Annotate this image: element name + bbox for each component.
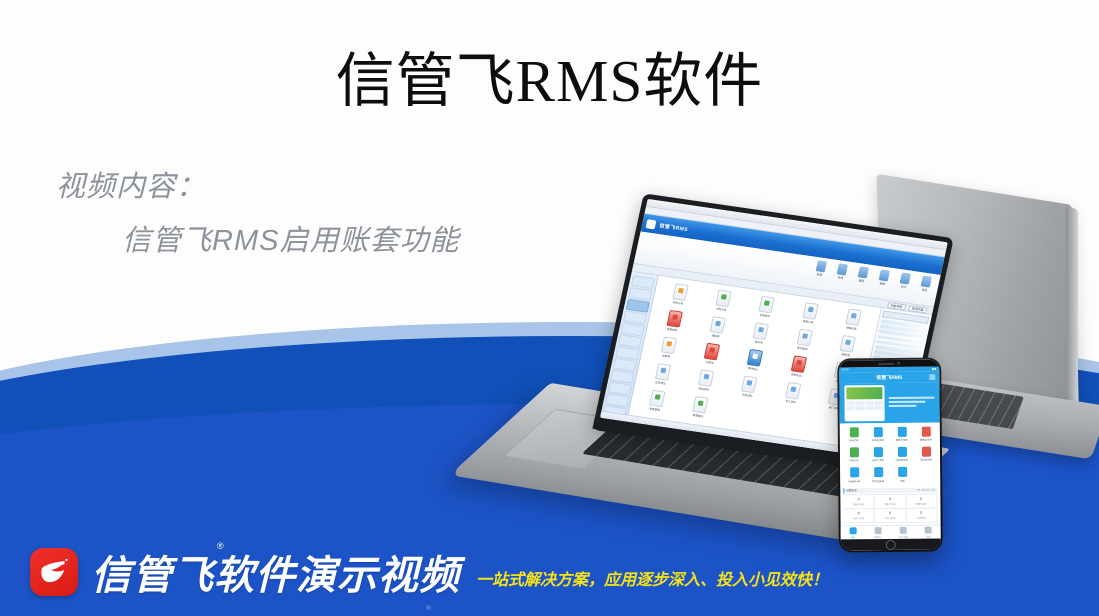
toolbar-button[interactable]: 删除	[854, 266, 872, 284]
function-icon-label: 仓库资料	[742, 393, 753, 398]
app-logo-icon	[646, 219, 657, 229]
function-icon-glyph	[846, 308, 862, 326]
function-icon[interactable]: 销售退货	[651, 308, 696, 335]
phone-function-item[interactable]: 采购退单单	[891, 447, 913, 462]
function-icon-glyph	[704, 343, 720, 361]
function-icon[interactable]: 调拨单	[695, 314, 740, 341]
function-icon-label: 其他收入	[747, 366, 758, 371]
function-icon-label: 调拨单	[711, 333, 720, 338]
subtitle-label: 视频内容：	[56, 163, 459, 205]
phone-stat-value: 0	[843, 497, 873, 501]
function-icon-glyph	[840, 335, 856, 353]
function-icon[interactable]: 仓库资料	[727, 374, 772, 401]
function-icon-glyph	[655, 363, 671, 381]
function-icon-glyph	[649, 390, 665, 408]
toolbar-label: 修改	[837, 275, 843, 280]
function-icon-glyph	[715, 290, 731, 308]
phone-stat-cell: 0库存金额	[906, 508, 937, 522]
function-icon[interactable]: 往来单位	[640, 361, 685, 388]
function-icon-label: 账套管理	[649, 407, 660, 412]
phone-function-label: 销售退货单	[920, 438, 932, 442]
function-icon-label: 盘点单	[755, 340, 764, 345]
phone-function-icon	[874, 467, 883, 477]
phone-function-label: 银行往来单	[872, 479, 884, 483]
phone-stat-cell: 0销售出库额	[906, 494, 937, 508]
phone-stat-cell: 0销售订单数	[875, 494, 906, 508]
phone-function-icon	[897, 447, 906, 457]
toolbar-button[interactable]: 修改	[833, 263, 851, 281]
presentation-slide: 信管飞RMS软件 视频内容： 信管飞RMS启用账套功能	[0, 0, 1099, 616]
phone-stat-value: 0	[906, 496, 936, 500]
toolbar-icon	[879, 269, 890, 281]
toolbar-label: 打印	[900, 284, 906, 289]
function-icon-label: 往来单位	[655, 380, 666, 385]
phone-stat-cell: 0采购订单额	[843, 509, 874, 523]
phone-function-label: 采购订单	[849, 459, 859, 463]
phone-function-icon	[898, 467, 907, 477]
phone-stat-value: 0	[906, 510, 936, 514]
function-icon-glyph	[759, 296, 775, 314]
function-icon[interactable]: 采购退货	[744, 294, 789, 321]
toolbar-icon	[837, 263, 848, 275]
toolbar-button[interactable]: 新增	[812, 260, 830, 278]
function-icon-glyph	[791, 355, 807, 373]
function-icon-label: 销售退货	[666, 327, 677, 332]
phone-status-icons: ▮▮▮	[932, 368, 936, 371]
phone-function-label: 采购订单	[849, 438, 859, 442]
phone-function-grid: 采购订单采购出库单销售订单单销售退货单采购订单采购入库单采购退单单采购退货单现金…	[840, 423, 941, 487]
smartphone-mockup: 09:30 ▮▮▮ 信管飞RMS	[837, 358, 943, 553]
phone-camera-icon	[897, 362, 900, 365]
phone-function-label: 销售订单单	[896, 438, 908, 442]
function-icon-label: 采购入库	[716, 306, 727, 311]
phone-screen: 09:30 ▮▮▮ 信管飞RMS	[839, 360, 941, 551]
function-icon[interactable]: 员工资料	[770, 380, 815, 407]
banner-title-text: 信管飞软件演示视频	[91, 554, 460, 598]
phone-function-item[interactable]: 销售订单单	[891, 427, 913, 442]
app-brand-title: 信管飞RMS	[659, 222, 689, 233]
phone-stat-label: 销售出库额	[906, 501, 936, 505]
phone-stat-value: 0	[875, 496, 905, 500]
phone-function-label: 现金银行单	[848, 479, 860, 483]
function-icon-label: 付款单	[705, 360, 714, 365]
phone-stat-value: 0	[875, 510, 905, 514]
function-icon-glyph	[802, 302, 818, 320]
function-icon-glyph	[785, 382, 801, 400]
phone-stat-cell: 0采购入库额	[875, 508, 906, 522]
phone-function-icon	[897, 427, 906, 437]
function-icon[interactable]: 采购订单	[657, 281, 702, 308]
phone-function-label: 采购出库单	[872, 438, 884, 442]
phone-stat-value: 0	[843, 511, 873, 515]
banner-slogan: 一站式解决方案，应用逐步深入、投入小见效快！	[476, 566, 828, 590]
function-icon[interactable]: 其他收入	[732, 347, 777, 374]
function-icon-glyph	[710, 316, 726, 334]
function-icon-label: 采购订单	[672, 300, 683, 305]
function-icon[interactable]: 盘点单	[738, 320, 783, 347]
secondary-laptop-lid-edge	[1066, 207, 1078, 409]
phone-function-item[interactable]: 现金银行单	[843, 468, 865, 483]
function-icon-label: 报损单	[841, 352, 850, 357]
phone-stats-grid: 0销售订单额0销售订单数0销售出库额0采购订单额0采购入库额0库存金额	[843, 493, 937, 523]
phone-function-label: 全部	[900, 478, 905, 482]
function-icon-glyph	[741, 376, 757, 394]
brand-logo-icon	[30, 548, 78, 596]
hero-text-lines	[888, 396, 934, 409]
phone-stat-label: 库存金额	[906, 515, 936, 519]
function-icon[interactable]: 销售出库	[831, 306, 876, 333]
toolbar-button[interactable]: 刷新	[875, 269, 893, 287]
decorative-dot-bottom	[426, 605, 431, 610]
toolbar-button[interactable]: 打印	[896, 272, 914, 290]
slide-title: 信管飞RMS软件	[0, 48, 1099, 114]
function-icon-label: 商品资料	[698, 386, 709, 391]
phone-function-icon	[873, 447, 882, 457]
function-icon-glyph	[796, 329, 812, 347]
toolbar-icon	[816, 260, 827, 272]
function-icon[interactable]: 采购入库	[701, 288, 746, 315]
phone-function-item[interactable]: 全部	[891, 467, 913, 482]
phone-status-time: 09:30	[842, 368, 849, 371]
phone-stat-label: 销售订单额	[843, 502, 873, 506]
phone-function-icon	[921, 447, 930, 457]
function-icon[interactable]: 销售订单	[787, 300, 832, 327]
function-icon[interactable]: 其他支出	[776, 353, 821, 380]
function-icon[interactable]: 账套管理	[634, 388, 679, 415]
toolbar-icon	[900, 272, 911, 284]
hamburger-menu-icon[interactable]	[929, 375, 935, 380]
phone-hero-banner	[839, 383, 939, 424]
function-icon[interactable]: 数据备份	[677, 394, 722, 421]
phone-app-title: 信管飞RMS	[876, 374, 902, 381]
phone-stat-label: 销售订单数	[875, 501, 905, 505]
function-icon[interactable]: 库存查询	[782, 327, 827, 354]
phone-function-icon	[850, 468, 859, 478]
phone-function-label: 采购退货单	[920, 458, 932, 462]
function-icon-label: 销售订单	[802, 319, 813, 324]
function-icon[interactable]: 报损单	[825, 333, 870, 360]
function-icon-label: 库存查询	[797, 346, 808, 351]
function-icon-label: 采购退货	[759, 313, 770, 318]
device-mockup-cluster: 信管飞RMS 新增修改删除刷新打印退出 功能导航常用功能 采购订单采购入库采购退…	[480, 190, 1099, 550]
phone-function-item[interactable]: 采购出库单	[867, 427, 889, 442]
function-icon-label: 其他支出	[791, 372, 802, 377]
function-icon[interactable]: 商品资料	[683, 367, 728, 394]
phone-stat-cell: 0销售订单额	[843, 495, 874, 509]
phone-function-label: 采购入库单	[872, 458, 884, 462]
phone-section-title: 经营状况	[846, 488, 856, 492]
subtitle-block: 视频内容： 信管飞RMS启用账套功能	[56, 163, 459, 259]
function-icon-label: 数据备份	[692, 413, 703, 418]
function-icon-glyph	[692, 396, 708, 414]
subtitle-value: 信管飞RMS启用账套功能	[122, 217, 459, 259]
phone-app-header: 信管飞RMS	[839, 372, 939, 384]
function-icon-glyph	[698, 369, 714, 387]
phone-function-icon	[921, 427, 930, 437]
toolbar-icon	[858, 266, 869, 278]
function-icon-label: 收款单	[662, 354, 671, 359]
hero-image	[846, 387, 882, 399]
phone-function-item[interactable]: 销售退货单	[915, 427, 937, 442]
phone-function-item[interactable]: 采购入库单	[867, 447, 889, 462]
function-icon-glyph	[747, 349, 763, 367]
phone-function-icon	[849, 427, 858, 437]
phone-function-item[interactable]: 采购订单	[843, 447, 865, 462]
banner-title: 信管飞软件演示视频 ®	[91, 543, 460, 601]
toolbar-label: 退出	[921, 288, 927, 293]
function-icon[interactable]: 收款单	[646, 334, 691, 361]
bottom-banner: 信管飞软件演示视频 ® 一站式解决方案，应用逐步深入、投入小见效快！	[0, 528, 1099, 616]
phone-stat-label: 采购订单额	[844, 516, 874, 520]
toolbar-label: 刷新	[879, 281, 885, 286]
toolbar-label: 新增	[816, 272, 822, 277]
hero-icon-rows	[847, 401, 883, 410]
phone-function-item[interactable]: 采购订单	[843, 427, 865, 442]
function-icon-glyph	[660, 336, 676, 354]
phone-stat-label: 采购入库额	[875, 515, 905, 519]
function-icon-glyph	[672, 283, 688, 301]
phone-section-header: 经营状况 今日 本周 本月 本年	[843, 487, 937, 493]
toolbar-icon	[921, 275, 932, 287]
function-icon-label: 员工资料	[785, 399, 796, 404]
hero-device-illustration	[844, 385, 884, 421]
function-icon[interactable]: 付款单	[689, 341, 734, 368]
phone-function-icon	[873, 427, 882, 437]
phone-function-item[interactable]: 采购退货单	[915, 447, 937, 462]
function-icon-glyph	[666, 310, 682, 328]
registered-trademark-mark: ®	[217, 541, 225, 551]
function-icon-glyph	[753, 322, 769, 340]
function-icon-label: 销售出库	[846, 325, 857, 330]
phone-function-item[interactable]: 银行往来单	[867, 467, 889, 482]
toolbar-label: 删除	[858, 278, 864, 283]
phone-section-filters[interactable]: 今日 本周 本月 本年	[916, 488, 935, 492]
phone-function-label: 采购退单单	[896, 458, 908, 462]
phone-function-icon	[849, 447, 858, 457]
toolbar-button[interactable]: 退出	[917, 275, 935, 293]
phone-speaker	[878, 362, 894, 364]
